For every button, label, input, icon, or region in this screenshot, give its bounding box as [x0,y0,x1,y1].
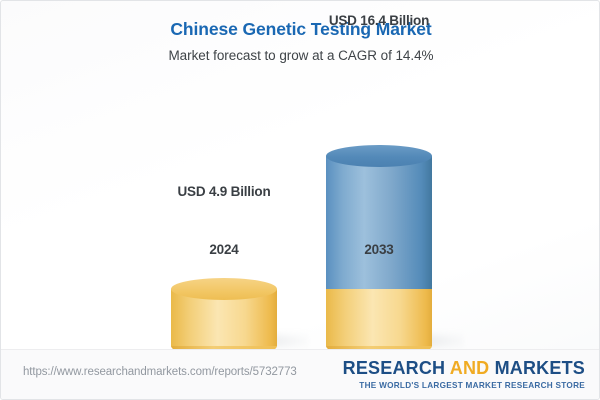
chart-card: Chinese Genetic Testing Market Market fo… [0,0,600,400]
cylinder-body [326,156,432,289]
report-url-link[interactable]: https://www.researchandmarkets.com/repor… [23,366,297,378]
bar-segment-growth-2033 [326,156,432,289]
bar-group-2033: USD 16.4 Billion 2033 [326,226,432,346]
brand-word-and: AND [450,358,490,378]
cylinder-top-ellipse [326,145,432,167]
brand-word-research: RESEARCH [343,358,450,378]
chart-plot-area: USD 4.9 Billion 2024 USD 16.4 Billion [1,1,600,346]
research-and-markets-logo[interactable]: RESEARCH AND MARKETS THE WORLD'S LARGEST… [343,358,585,390]
bar-value-label-2033: USD 16.4 Billion [279,13,479,28]
bar-segment-base-2024 [171,289,277,346]
bar-value-label-2024: USD 4.9 Billion [124,184,324,199]
chart-footer: https://www.researchandmarkets.com/repor… [1,350,600,400]
brand-word-markets: MARKETS [489,358,585,378]
bar-category-label-2033: 2033 [279,242,479,257]
brand-tagline: THE WORLD'S LARGEST MARKET RESEARCH STOR… [343,381,585,390]
bar-cylinder-2024[interactable] [171,289,277,346]
bar-segment-base-2033 [326,289,432,346]
cylinder-top-ellipse [171,278,277,300]
cylinder-body [326,289,432,346]
bar-group-2024: USD 4.9 Billion 2024 [171,226,277,346]
brand-wordmark: RESEARCH AND MARKETS [343,358,585,379]
